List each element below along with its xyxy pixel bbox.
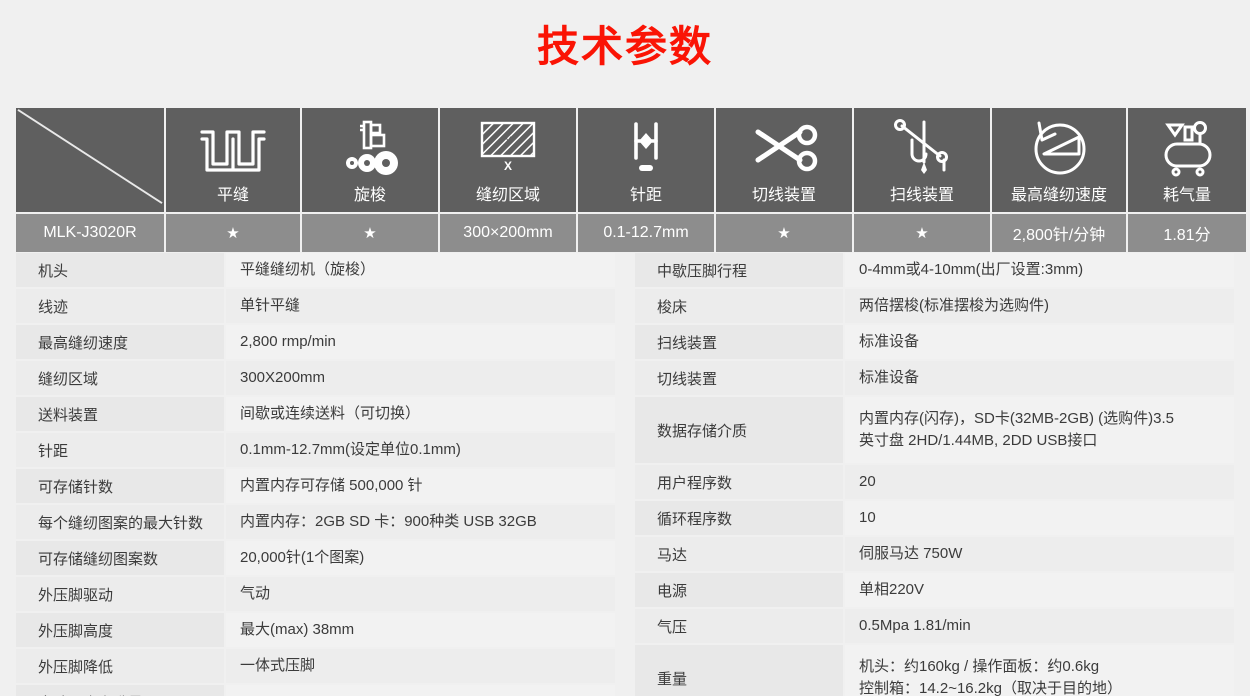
table-row: 循环程序数10 bbox=[635, 501, 1234, 535]
table-row: 扫线装置标准设备 bbox=[635, 325, 1234, 359]
thread-wiper-icon bbox=[854, 108, 990, 187]
header-caption: 最高缝纫速度 bbox=[1011, 187, 1107, 205]
table-row: 可存储缝纫图案数20,000针(1个图案) bbox=[16, 541, 615, 575]
header-cell-sewing-area: Y X 缝纫区域 bbox=[440, 108, 576, 212]
header-caption: 针距 bbox=[630, 187, 662, 205]
table-row: 马达伺服马达 750W bbox=[635, 537, 1234, 571]
rotary-hook-icon bbox=[302, 108, 438, 187]
spec-value-line: 0-4mm或4-10mm(出厂设置:3mm) bbox=[859, 259, 1234, 281]
spec-sheet-page: 技术参数 平缝 bbox=[0, 0, 1250, 696]
spec-value: 一体式压脚 bbox=[226, 649, 615, 683]
table-row: 外压脚驱动气动 bbox=[16, 577, 615, 611]
spec-value: 300X200mm bbox=[226, 361, 615, 395]
spec-value-line: 单针平缝 bbox=[240, 295, 615, 317]
spec-value: 平缝缝纫机（旋梭） bbox=[226, 253, 615, 287]
spec-value-line: 20 bbox=[859, 471, 1234, 493]
spec-value: 内置内存(闪存)，SD卡(32MB-2GB) (选购件)3.5英寸盘 2HD/1… bbox=[845, 397, 1234, 463]
page-title: 技术参数 bbox=[0, 0, 1250, 68]
spec-label: 马达 bbox=[635, 537, 843, 571]
spec-label: 重量 bbox=[635, 645, 843, 696]
spec-value: 两倍摆梭(标准摆梭为选购件) bbox=[845, 289, 1234, 323]
spec-value: 0.5Mpa 1.81/min bbox=[845, 609, 1234, 643]
table-row: 可存储针数内置内存可存储 500,000 针 bbox=[16, 469, 615, 503]
spec-value-line: 单相220V bbox=[859, 579, 1234, 601]
spec-label: 每个缝纫图案的最大针数 bbox=[16, 505, 224, 539]
spec-value: 标准设备 bbox=[845, 361, 1234, 395]
table-row: 梭床两倍摆梭(标准摆梭为选购件) bbox=[635, 289, 1234, 323]
model-number: MLK-J3020R bbox=[16, 214, 164, 252]
spec-value: 0.1mm-12.7mm(设定单位0.1mm) bbox=[226, 433, 615, 467]
spec-value: 最大(max) 38mm bbox=[226, 613, 615, 647]
spec-value-line: 2,800 rmp/min bbox=[240, 331, 615, 353]
table-row: 中歇压脚上升量22mm bbox=[16, 685, 615, 696]
spec-value: 20 bbox=[845, 465, 1234, 499]
table-row: 最高缝纫速度2,800 rmp/min bbox=[16, 325, 615, 359]
table-row: 每个缝纫图案的最大针数内置内存：2GB SD 卡：900种类 USB 32GB bbox=[16, 505, 615, 539]
value-max-speed: 2,800针/分钟 bbox=[992, 214, 1126, 252]
spec-value-line: 一体式压脚 bbox=[240, 655, 615, 677]
spec-value: 标准设备 bbox=[845, 325, 1234, 359]
diagonal-line-icon bbox=[16, 108, 164, 205]
table-row: 重量机头：约160kg / 操作面板：约0.6kg控制箱：14.2~16.2kg… bbox=[635, 645, 1234, 696]
spec-value: 内置内存可存储 500,000 针 bbox=[226, 469, 615, 503]
spec-value-line: 间歇或连续送料（可切换） bbox=[240, 403, 615, 425]
header-cell-air-consumption: 耗气量 bbox=[1128, 108, 1246, 212]
spec-value-line: 最大(max) 38mm bbox=[240, 619, 615, 641]
spec-value: 2,800 rmp/min bbox=[226, 325, 615, 359]
spec-value-line: 内置内存可存储 500,000 针 bbox=[240, 475, 615, 497]
max-speed-icon bbox=[992, 108, 1126, 187]
spec-label: 最高缝纫速度 bbox=[16, 325, 224, 359]
spec-value: 气动 bbox=[226, 577, 615, 611]
stitch-pitch-icon bbox=[578, 108, 714, 187]
header-caption: 缝纫区域 bbox=[476, 187, 540, 205]
table-row: 缝纫区域300X200mm bbox=[16, 361, 615, 395]
spec-value-line: 标准设备 bbox=[859, 367, 1234, 389]
diagonal-slash-cell bbox=[16, 108, 164, 212]
spec-value: 单相220V bbox=[845, 573, 1234, 607]
spec-label: 扫线装置 bbox=[635, 325, 843, 359]
header-cell-max-speed: 最高缝纫速度 bbox=[992, 108, 1126, 212]
spec-label: 线迹 bbox=[16, 289, 224, 323]
spec-value-line: 伺服马达 750W bbox=[859, 543, 1234, 565]
header-caption: 扫线装置 bbox=[890, 187, 954, 205]
spec-label: 中歇压脚行程 bbox=[635, 253, 843, 287]
spec-label: 外压脚高度 bbox=[16, 613, 224, 647]
spec-value-line: 22mm bbox=[240, 691, 615, 696]
table-row: 机头平缝缝纫机（旋梭） bbox=[16, 253, 615, 287]
spec-value: 伺服马达 750W bbox=[845, 537, 1234, 571]
spec-value-line: 20,000针(1个图案) bbox=[240, 547, 615, 569]
header-caption: 平缝 bbox=[217, 187, 249, 205]
spec-label: 针距 bbox=[16, 433, 224, 467]
spec-value: 间歇或连续送料（可切换） bbox=[226, 397, 615, 431]
spec-value: 内置内存：2GB SD 卡：900种类 USB 32GB bbox=[226, 505, 615, 539]
spec-value-line: 机头：约160kg / 操作面板：约0.6kg bbox=[859, 656, 1234, 678]
header-cell-stitch-pitch: 针距 bbox=[578, 108, 714, 212]
value-sewing-area: 300×200mm bbox=[440, 214, 576, 252]
table-row: 电源单相220V bbox=[635, 573, 1234, 607]
value-air-consumption: 1.81分 bbox=[1128, 214, 1246, 252]
table-row: 送料装置间歇或连续送料（可切换） bbox=[16, 397, 615, 431]
thread-trimmer-icon bbox=[716, 108, 852, 187]
air-consumption-icon bbox=[1128, 108, 1246, 187]
spec-label: 送料装置 bbox=[16, 397, 224, 431]
area-axis-x-label: X bbox=[504, 159, 512, 173]
spec-label: 可存储缝纫图案数 bbox=[16, 541, 224, 575]
table-row: 外压脚降低一体式压脚 bbox=[16, 649, 615, 683]
spec-value: 22mm bbox=[226, 685, 615, 696]
spec-label: 梭床 bbox=[635, 289, 843, 323]
header-cell-thread-wiper: 扫线装置 bbox=[854, 108, 990, 212]
spec-label: 切线装置 bbox=[635, 361, 843, 395]
value-flat-seam: ★ bbox=[166, 214, 300, 252]
spec-value-line: 300X200mm bbox=[240, 367, 615, 389]
spec-value-line: 英寸盘 2HD/1.44MB, 2DD USB接口 bbox=[859, 430, 1234, 452]
spec-summary-band: 平缝 bbox=[16, 108, 1234, 252]
spec-value-line: 两倍摆梭(标准摆梭为选购件) bbox=[859, 295, 1234, 317]
table-row: 数据存储介质内置内存(闪存)，SD卡(32MB-2GB) (选购件)3.5英寸盘… bbox=[635, 397, 1234, 463]
spec-label: 缝纫区域 bbox=[16, 361, 224, 395]
spec-value-line: 内置内存：2GB SD 卡：900种类 USB 32GB bbox=[240, 511, 615, 533]
spec-label: 外压脚降低 bbox=[16, 649, 224, 683]
header-caption: 切线装置 bbox=[752, 187, 816, 205]
table-row: 气压0.5Mpa 1.81/min bbox=[635, 609, 1234, 643]
spec-value-line: 内置内存(闪存)，SD卡(32MB-2GB) (选购件)3.5 bbox=[859, 408, 1234, 430]
table-row: 外压脚高度最大(max) 38mm bbox=[16, 613, 615, 647]
spec-label: 机头 bbox=[16, 253, 224, 287]
value-thread-trimmer: ★ bbox=[716, 214, 852, 252]
table-row: 切线装置标准设备 bbox=[635, 361, 1234, 395]
spec-value: 10 bbox=[845, 501, 1234, 535]
table-row: 用户程序数20 bbox=[635, 465, 1234, 499]
area-axis-y-label: Y bbox=[504, 135, 512, 147]
spec-value-line: 0.1mm-12.7mm(设定单位0.1mm) bbox=[240, 439, 615, 461]
spec-label: 气压 bbox=[635, 609, 843, 643]
table-row: 线迹单针平缝 bbox=[16, 289, 615, 323]
model-value-row: MLK-J3020R ★ ★ 300×200mm 0.1-12.7mm ★ ★ … bbox=[16, 214, 1234, 252]
spec-label: 用户程序数 bbox=[635, 465, 843, 499]
spec-value-line: 控制箱：14.2~16.2kg（取决于目的地） bbox=[859, 678, 1234, 696]
spec-label: 电源 bbox=[635, 573, 843, 607]
table-row: 中歇压脚行程0-4mm或4-10mm(出厂设置:3mm) bbox=[635, 253, 1234, 287]
spec-label: 外压脚驱动 bbox=[16, 577, 224, 611]
header-cell-rotary-hook: 旋梭 bbox=[302, 108, 438, 212]
spec-label: 可存储针数 bbox=[16, 469, 224, 503]
spec-value-line: 10 bbox=[859, 507, 1234, 529]
spec-value-line: 气动 bbox=[240, 583, 615, 605]
value-stitch-pitch: 0.1-12.7mm bbox=[578, 214, 714, 252]
icon-header-row: 平缝 bbox=[16, 108, 1234, 212]
spec-value: 0-4mm或4-10mm(出厂设置:3mm) bbox=[845, 253, 1234, 287]
spec-value-line: 标准设备 bbox=[859, 331, 1234, 353]
header-caption: 耗气量 bbox=[1163, 187, 1211, 205]
spec-label: 中歇压脚上升量 bbox=[16, 685, 224, 696]
header-cell-thread-trimmer: 切线装置 bbox=[716, 108, 852, 212]
header-cell-flat-seam: 平缝 bbox=[166, 108, 300, 212]
spec-value: 机头：约160kg / 操作面板：约0.6kg控制箱：14.2~16.2kg（取… bbox=[845, 645, 1234, 696]
sewing-area-icon: Y X bbox=[440, 108, 576, 187]
spec-detail-tables: 机头平缝缝纫机（旋梭）线迹单针平缝最高缝纫速度2,800 rmp/min缝纫区域… bbox=[16, 253, 1234, 696]
value-rotary-hook: ★ bbox=[302, 214, 438, 252]
value-thread-wiper: ★ bbox=[854, 214, 990, 252]
spec-value-line: 0.5Mpa 1.81/min bbox=[859, 615, 1234, 637]
left-spec-table: 机头平缝缝纫机（旋梭）线迹单针平缝最高缝纫速度2,800 rmp/min缝纫区域… bbox=[16, 253, 615, 696]
table-row: 针距0.1mm-12.7mm(设定单位0.1mm) bbox=[16, 433, 615, 467]
spec-label: 数据存储介质 bbox=[635, 397, 843, 463]
spec-value-line: 平缝缝纫机（旋梭） bbox=[240, 259, 615, 281]
spec-value: 20,000针(1个图案) bbox=[226, 541, 615, 575]
spec-value: 单针平缝 bbox=[226, 289, 615, 323]
right-spec-table: 中歇压脚行程0-4mm或4-10mm(出厂设置:3mm)梭床两倍摆梭(标准摆梭为… bbox=[635, 253, 1234, 696]
spec-label: 循环程序数 bbox=[635, 501, 843, 535]
header-caption: 旋梭 bbox=[354, 187, 386, 205]
flat-seam-icon bbox=[166, 108, 300, 187]
